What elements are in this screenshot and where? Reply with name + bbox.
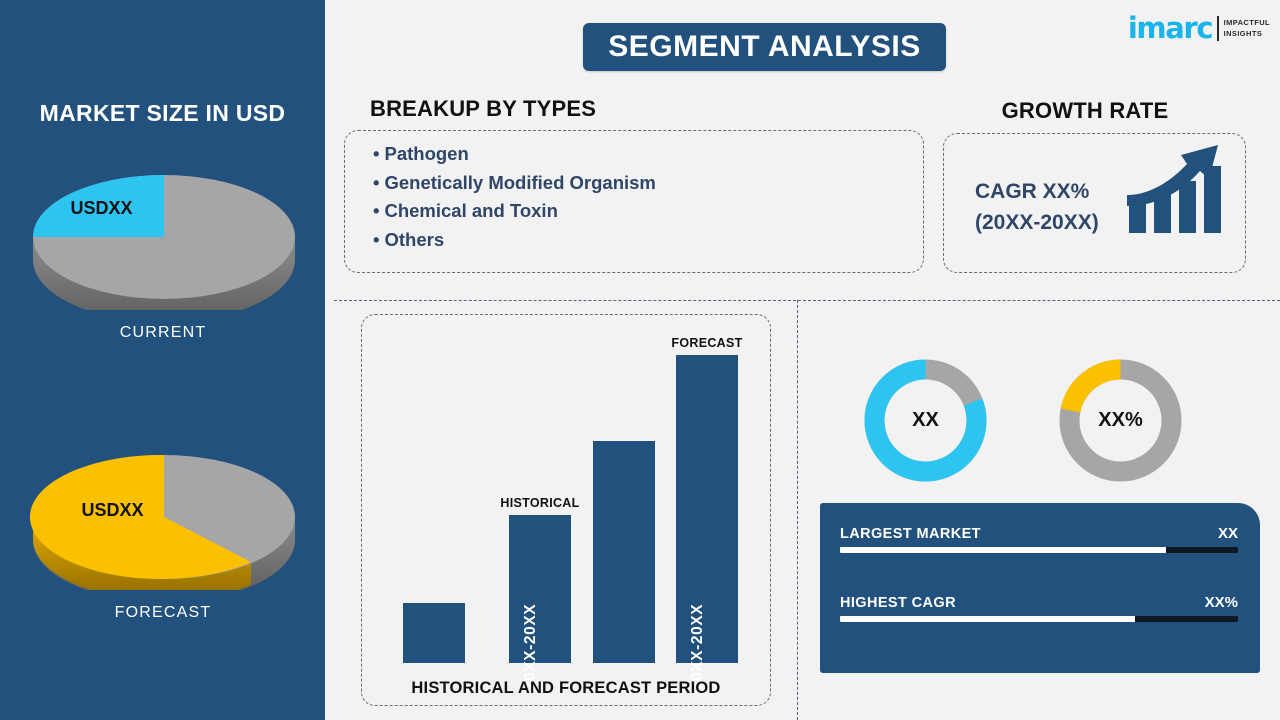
pie-chart-forecast: USDXX [26, 440, 301, 590]
logo-tagline: IMPACTFUL INSIGHTS [1224, 18, 1270, 38]
pie-current-svg [26, 160, 301, 310]
logo-tagline-line1: IMPACTFUL [1224, 18, 1270, 28]
main-canvas: SEGMENT ANALYSIS imarc IMPACTFUL INSIGHT… [325, 0, 1280, 720]
cagr-line1: CAGR XX% [975, 176, 1099, 207]
list-item-label: Pathogen [384, 143, 468, 164]
metric-highest-cagr-value: XX% [1205, 594, 1238, 611]
bar-1 [403, 603, 465, 663]
donut-1-value: XX [860, 355, 991, 486]
metric-largest-market: LARGEST MARKET XX [840, 525, 1238, 553]
breakup-by-types-heading: BREAKUP BY TYPES [370, 96, 596, 122]
bar-4: 20XX-20XX [676, 355, 738, 663]
historical-annotation: HISTORICAL [500, 496, 579, 510]
metric-largest-market-label: LARGEST MARKET [840, 526, 981, 542]
key-metrics-panel: LARGEST MARKET XX HIGHEST CAGR XX% [820, 503, 1260, 673]
imarc-logo: imarc IMPACTFUL INSIGHTS [1128, 14, 1270, 43]
page-title: SEGMENT ANALYSIS [583, 23, 946, 71]
list-item: •Pathogen [373, 140, 656, 169]
metric-largest-market-value: XX [1218, 525, 1238, 542]
logo-tagline-line2: INSIGHTS [1224, 29, 1270, 39]
list-item-label: Chemical and Toxin [384, 200, 557, 221]
bar-2: 20XX-20XX [509, 515, 571, 663]
pie-forecast-svg [26, 440, 301, 590]
sidebar-title: MARKET SIZE IN USD [0, 100, 325, 127]
infographic-root: MARKET SIZE IN USD USDXX [0, 0, 1280, 720]
donut-chart-1: XX [860, 355, 991, 486]
bullet-icon: • [373, 172, 379, 193]
vertical-divider [797, 300, 798, 720]
donut-chart-2: XX% [1055, 355, 1186, 486]
list-item-label: Others [384, 229, 444, 250]
bullet-icon: • [373, 229, 379, 250]
historical-forecast-bar-chart: 20XX-20XX 20XX-20XX HISTORICAL FORECAST … [361, 314, 771, 706]
bar-chart-caption: HISTORICAL AND FORECAST PERIOD [361, 679, 771, 698]
pie-chart-current: USDXX [26, 160, 301, 310]
metric-largest-market-fill [840, 547, 1166, 553]
horizontal-divider [334, 300, 1280, 301]
metric-highest-cagr-fill [840, 616, 1135, 622]
list-item: •Others [373, 226, 656, 255]
pie-block-forecast: USDXX FORECAST [18, 440, 308, 622]
pie-block-current: USDXX CURRENT [18, 160, 308, 342]
logo-wordmark: imarc [1128, 14, 1212, 43]
forecast-annotation: FORECAST [671, 336, 742, 350]
list-item: •Chemical and Toxin [373, 197, 656, 226]
list-item: •Genetically Modified Organism [373, 169, 656, 198]
bar-2-period-label: 20XX-20XX [522, 604, 540, 690]
growth-rate-heading: GROWTH RATE [925, 98, 1245, 124]
list-item-label: Genetically Modified Organism [384, 172, 655, 193]
pie-current-caption: CURRENT [18, 324, 308, 342]
breakup-types-list: •Pathogen •Genetically Modified Organism… [373, 140, 656, 254]
bullet-icon: • [373, 143, 379, 164]
growth-rate-text: CAGR XX% (20XX-20XX) [975, 176, 1099, 238]
cagr-line2: (20XX-20XX) [975, 207, 1099, 238]
metric-highest-cagr-label: HIGHEST CAGR [840, 595, 956, 611]
bar-3 [593, 441, 655, 663]
bullet-icon: • [373, 200, 379, 221]
metric-highest-cagr: HIGHEST CAGR XX% [840, 594, 1238, 622]
bar-4-period-label: 20XX-20XX [689, 604, 707, 690]
metric-highest-cagr-track [840, 616, 1238, 622]
pie-forecast-caption: FORECAST [18, 604, 308, 622]
metric-largest-market-track [840, 547, 1238, 553]
market-size-sidebar: MARKET SIZE IN USD USDXX [0, 0, 325, 720]
donut-2-value: XX% [1055, 355, 1186, 486]
growth-arrow-bars-icon [1125, 143, 1225, 240]
logo-divider [1217, 16, 1219, 41]
